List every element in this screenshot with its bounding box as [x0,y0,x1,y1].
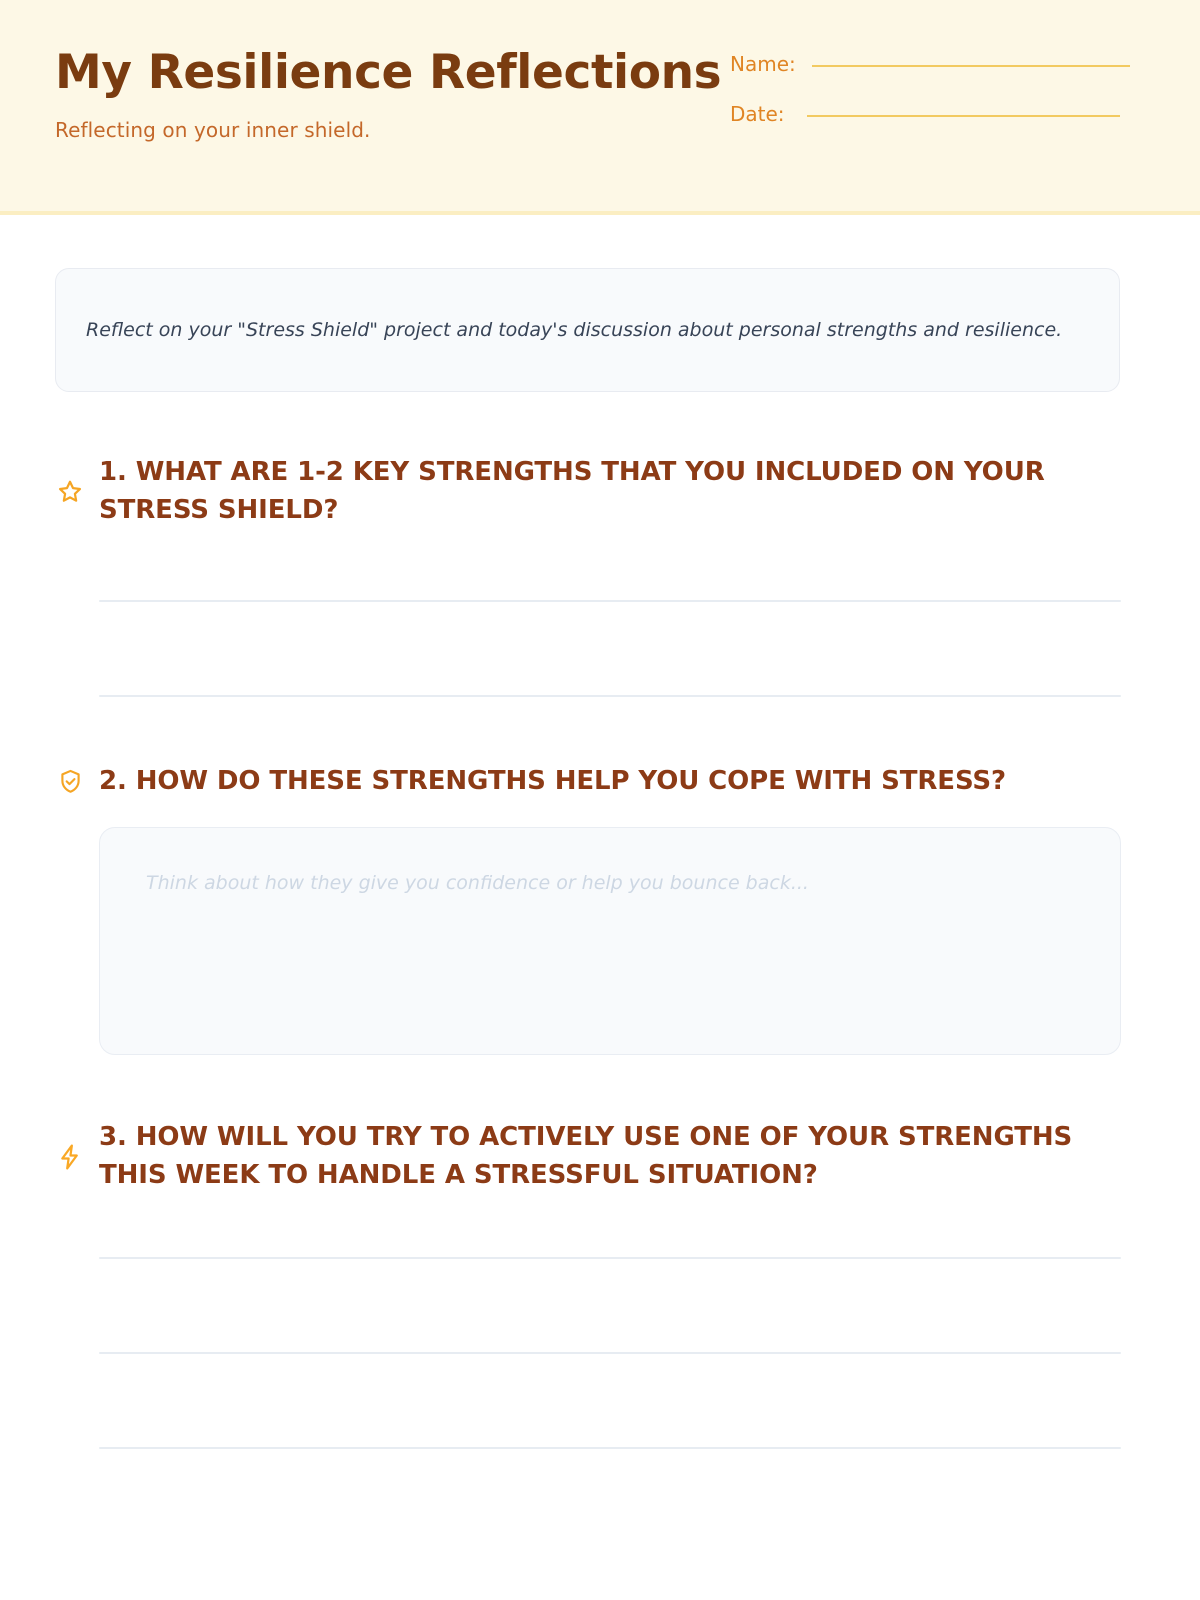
question-2-answer-textarea[interactable]: Think about how they give you confidence… [99,827,1121,1055]
date-label: Date: [730,102,785,126]
question-1-header: 1. WHAT ARE 1-2 KEY STRENGTHS THAT YOU I… [55,454,1145,530]
lightning-bolt-icon [55,1142,85,1172]
title-block: My Resilience Reflections Reflecting on … [55,46,715,142]
question-3-title: 3. HOW WILL YOU TRY TO ACTIVELY USE ONE … [99,1119,1109,1195]
page-title: My Resilience Reflections [55,46,715,100]
question-block-3: 3. HOW WILL YOU TRY TO ACTIVELY USE ONE … [55,1119,1145,1449]
date-input-line[interactable] [807,115,1120,117]
shield-check-icon [55,767,85,797]
question-3-answer-area[interactable] [99,1257,1145,1449]
name-field-row: Name: [730,52,1130,92]
answer-line-gap [99,1259,1145,1352]
page-header: My Resilience Reflections Reflecting on … [0,0,1200,215]
instruction-text: Reflect on your "Stress Shield" project … [86,314,1062,347]
worksheet-body: Reflect on your "Stress Shield" project … [0,268,1200,1449]
page-subtitle: Reflecting on your inner shield. [55,118,715,142]
name-label: Name: [730,52,796,76]
answer-line[interactable] [99,1447,1121,1449]
question-block-1: 1. WHAT ARE 1-2 KEY STRENGTHS THAT YOU I… [55,454,1145,697]
question-2-header: 2. HOW DO THESE STRENGTHS HELP YOU COPE … [55,763,1145,801]
question-block-2: 2. HOW DO THESE STRENGTHS HELP YOU COPE … [55,763,1145,1055]
question-1-answer-area[interactable] [99,600,1145,697]
worksheet-page: My Resilience Reflections Reflecting on … [0,0,1200,1600]
question-2-title: 2. HOW DO THESE STRENGTHS HELP YOU COPE … [99,763,1006,801]
answer-line[interactable] [99,695,1121,697]
instruction-box: Reflect on your "Stress Shield" project … [55,268,1120,392]
date-field-row: Date: [730,102,1130,142]
name-input-line[interactable] [812,65,1130,67]
answer-line-gap [99,1354,1145,1447]
question-1-title: 1. WHAT ARE 1-2 KEY STRENGTHS THAT YOU I… [99,454,1109,530]
question-2-placeholder: Think about how they give you confidence… [146,868,1074,898]
star-icon [55,477,85,507]
answer-line-gap [99,602,1145,695]
student-meta-block: Name: Date: [730,52,1130,142]
question-3-header: 3. HOW WILL YOU TRY TO ACTIVELY USE ONE … [55,1119,1145,1195]
